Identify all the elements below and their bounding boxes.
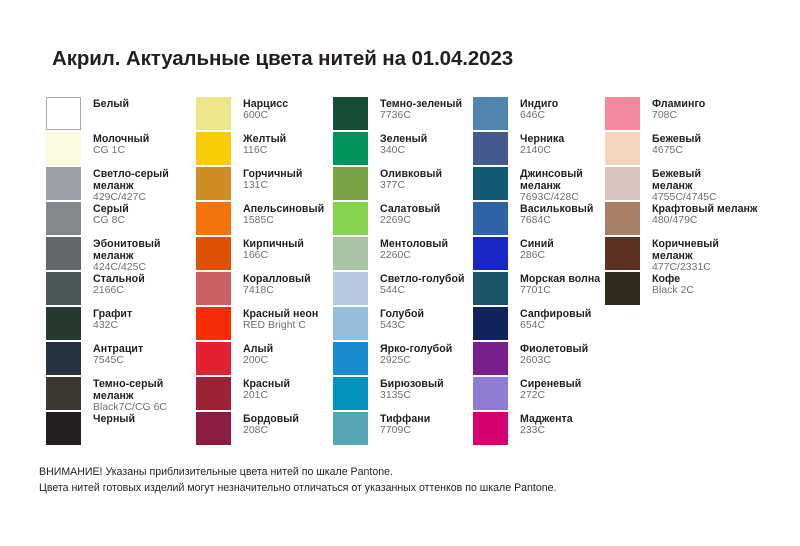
color-swatch[interactable] — [196, 167, 231, 200]
swatch-row[interactable]: Голубой543C — [333, 307, 473, 342]
swatch-labels: Синий286C — [520, 237, 554, 262]
color-swatch[interactable] — [46, 132, 81, 165]
swatch-column-greens-blues: Темно-зеленый7736CЗеленый340CОливковый37… — [333, 97, 473, 447]
color-swatch[interactable] — [473, 237, 508, 270]
swatch-row[interactable]: КофеBlack 2C — [605, 272, 800, 307]
swatch-labels: Крафтовый меланж480/479C — [652, 202, 758, 227]
color-name: Графит — [93, 308, 132, 320]
color-swatch[interactable] — [46, 97, 81, 130]
swatch-column-blues-purples: Индиго646CЧерника2140CДжинсовыймеланж769… — [473, 97, 605, 447]
disclaimer-footer: ВНИМАНИЕ! Указаны приблизительные цвета … — [39, 464, 557, 497]
pantone-code: 1585C — [243, 215, 324, 227]
color-swatch[interactable] — [196, 412, 231, 445]
color-swatch[interactable] — [333, 412, 368, 445]
color-name: Фиолетовый — [520, 343, 588, 355]
color-name: Серый — [93, 203, 129, 215]
pantone-code: 116C — [243, 145, 286, 157]
swatch-row[interactable]: Бежевыймеланж4755C/4745C — [605, 167, 800, 202]
swatch-row[interactable]: Оливковый377C — [333, 167, 473, 202]
color-name: Красный — [243, 378, 290, 390]
color-swatch[interactable] — [605, 202, 640, 235]
pantone-code: 7684C — [520, 215, 593, 227]
color-name-line2: меланж — [93, 180, 169, 192]
color-name: Горчичный — [243, 168, 302, 180]
pantone-code: 233C — [520, 425, 573, 437]
disclaimer-line-2: Цвета нитей готовых изделий могут незнач… — [39, 480, 557, 496]
swatch-labels: Морская волна7701C — [520, 272, 600, 297]
swatch-row[interactable]: Фиолетовый2603C — [473, 342, 605, 377]
swatch-column-pinks-browns: Фламинго708CБежевый4675CБежевыймеланж475… — [605, 97, 800, 307]
swatch-labels: Фиолетовый2603C — [520, 342, 588, 367]
swatch-labels: Кирпичный166C — [243, 237, 304, 262]
pantone-code: 3135C — [380, 390, 444, 402]
color-swatch[interactable] — [46, 307, 81, 340]
swatch-row[interactable]: Алый200C — [196, 342, 333, 377]
swatch-row[interactable]: Белый — [46, 97, 196, 132]
color-name-line2: меланж — [93, 250, 161, 262]
color-swatch[interactable] — [473, 342, 508, 375]
swatch-labels: Фламинго708C — [652, 97, 705, 122]
swatch-row[interactable]: Темно-серыймеланжBlack7C/CG 6C — [46, 377, 196, 412]
color-swatch[interactable] — [333, 132, 368, 165]
swatch-column-warms: Нарцисс600CЖелтый116CГорчичный131CАпельс… — [196, 97, 333, 447]
color-name: Сиреневый — [520, 378, 581, 390]
pantone-code: 2269C — [380, 215, 440, 227]
color-name: Антрацит — [93, 343, 143, 355]
swatch-row[interactable]: Сапфировый654C — [473, 307, 605, 342]
swatch-labels: Тиффани7709C — [380, 412, 430, 437]
color-name-line2: меланж — [520, 180, 583, 192]
color-name: Ярко-голубой — [380, 343, 452, 355]
color-name: Бордовый — [243, 413, 299, 425]
swatch-labels: Темно-серыймеланжBlack7C/CG 6C — [93, 377, 167, 414]
pantone-code: 377C — [380, 180, 442, 192]
pantone-code: 131C — [243, 180, 302, 192]
color-swatch[interactable] — [605, 237, 640, 270]
swatch-row[interactable]: Бирюзовый3135C — [333, 377, 473, 412]
swatch-labels: Черный — [93, 412, 135, 425]
swatch-row[interactable]: Светло-голубой544C — [333, 272, 473, 307]
swatch-labels: Темно-зеленый7736C — [380, 97, 462, 122]
color-name: Нарцисс — [243, 98, 288, 110]
color-chart-page: Акрил. Актуальные цвета нитей на 01.04.2… — [0, 0, 800, 546]
color-name: Оливковый — [380, 168, 442, 180]
pantone-code: 7418C — [243, 285, 311, 297]
swatch-row[interactable]: Черный — [46, 412, 196, 447]
color-swatch[interactable] — [473, 412, 508, 445]
color-name: Индиго — [520, 98, 558, 110]
swatch-labels: Красный неонRED Bright C — [243, 307, 318, 332]
pantone-code: 708C — [652, 110, 705, 122]
swatch-row[interactable]: Бордовый208C — [196, 412, 333, 447]
pantone-code: 7545C — [93, 355, 143, 367]
swatch-labels: Бежевый4675C — [652, 132, 701, 157]
pantone-code: 2925C — [380, 355, 452, 367]
color-name: Салатовый — [380, 203, 440, 215]
pantone-code: 286C — [520, 250, 554, 262]
pantone-code: 166C — [243, 250, 304, 262]
color-swatch[interactable] — [473, 307, 508, 340]
swatch-row[interactable]: Эбонитовыймеланж424C/425C — [46, 237, 196, 272]
color-swatch[interactable] — [46, 377, 81, 410]
pantone-code: 654C — [520, 320, 591, 332]
pantone-code: 272C — [520, 390, 581, 402]
swatch-row[interactable]: Апельсиновый1585C — [196, 202, 333, 237]
color-swatch[interactable] — [605, 272, 640, 305]
swatch-row[interactable]: Антрацит7545C — [46, 342, 196, 377]
swatch-labels: Антрацит7545C — [93, 342, 143, 367]
swatch-labels: Зеленый340C — [380, 132, 427, 157]
pantone-code: 200C — [243, 355, 273, 367]
swatch-labels: Сапфировый654C — [520, 307, 591, 332]
swatch-row[interactable]: Ярко-голубой2925C — [333, 342, 473, 377]
swatch-row[interactable]: Темно-зеленый7736C — [333, 97, 473, 132]
swatch-row[interactable]: Индиго646C — [473, 97, 605, 132]
swatch-labels: Эбонитовыймеланж424C/425C — [93, 237, 161, 274]
swatch-row[interactable]: Коричневыймеланж477C/2331C — [605, 237, 800, 272]
color-swatch[interactable] — [46, 202, 81, 235]
color-name: Бирюзовый — [380, 378, 444, 390]
color-swatch[interactable] — [333, 97, 368, 130]
color-name: Эбонитовый — [93, 238, 161, 250]
color-swatch[interactable] — [196, 307, 231, 340]
color-name: Стальной — [93, 273, 145, 285]
swatch-row[interactable]: Красный201C — [196, 377, 333, 412]
pantone-code: RED Bright C — [243, 320, 318, 332]
color-name-line2: меланж — [93, 390, 167, 402]
pantone-code: 340C — [380, 145, 427, 157]
color-swatch[interactable] — [46, 167, 81, 200]
swatch-labels: Васильковый7684C — [520, 202, 593, 227]
swatch-labels: Черника2140C — [520, 132, 564, 157]
swatch-labels: Бордовый208C — [243, 412, 299, 437]
swatch-columns: БелыйМолочныйCG 1CСветло-серыймеланж429C… — [46, 97, 800, 447]
color-name-line2: меланж — [652, 180, 717, 192]
color-name: Коралловый — [243, 273, 311, 285]
color-name: Молочный — [93, 133, 149, 145]
page-title: Акрил. Актуальные цвета нитей на 01.04.2… — [52, 47, 513, 71]
swatch-labels: Стальной2166C — [93, 272, 145, 297]
color-swatch[interactable] — [473, 377, 508, 410]
swatch-labels: Бежевыймеланж4755C/4745C — [652, 167, 717, 204]
color-name: Бежевый — [652, 168, 717, 180]
swatch-row[interactable]: Крафтовый меланж480/479C — [605, 202, 800, 237]
swatch-labels: КофеBlack 2C — [652, 272, 694, 297]
pantone-code: 2260C — [380, 250, 448, 262]
color-swatch[interactable] — [196, 342, 231, 375]
pantone-code: 432C — [93, 320, 132, 332]
swatch-labels: Индиго646C — [520, 97, 558, 122]
color-swatch[interactable] — [333, 377, 368, 410]
color-name: Светло-серый — [93, 168, 169, 180]
swatch-row[interactable]: Тиффани7709C — [333, 412, 473, 447]
color-swatch[interactable] — [473, 167, 508, 200]
swatch-row[interactable]: Салатовый2269C — [333, 202, 473, 237]
pantone-code: 480/479C — [652, 215, 758, 227]
color-name: Морская волна — [520, 273, 600, 285]
color-swatch[interactable] — [196, 97, 231, 130]
color-name: Красный неон — [243, 308, 318, 320]
color-swatch[interactable] — [333, 237, 368, 270]
color-name: Зеленый — [380, 133, 427, 145]
swatch-labels: Ментоловый2260C — [380, 237, 448, 262]
color-name: Васильковый — [520, 203, 593, 215]
swatch-labels: Красный201C — [243, 377, 290, 402]
color-swatch[interactable] — [196, 272, 231, 305]
swatch-labels: МолочныйCG 1C — [93, 132, 149, 157]
swatch-row[interactable]: Джинсовыймеланж7693C/428C — [473, 167, 605, 202]
color-swatch[interactable] — [46, 342, 81, 375]
pantone-code: 201C — [243, 390, 290, 402]
color-swatch[interactable] — [605, 97, 640, 130]
disclaimer-line-1: ВНИМАНИЕ! Указаны приблизительные цвета … — [39, 464, 557, 480]
color-name: Джинсовый — [520, 168, 583, 180]
swatch-row[interactable]: Красный неонRED Bright C — [196, 307, 333, 342]
pantone-code: 7709C — [380, 425, 430, 437]
swatch-labels: Апельсиновый1585C — [243, 202, 324, 227]
color-name: Желтый — [243, 133, 286, 145]
color-name: Темно-серый — [93, 378, 167, 390]
swatch-labels: Джинсовыймеланж7693C/428C — [520, 167, 583, 204]
pantone-code: Black 2C — [652, 285, 694, 297]
swatch-labels: Оливковый377C — [380, 167, 442, 192]
color-name-line2: меланж — [652, 250, 719, 262]
color-name: Сапфировый — [520, 308, 591, 320]
color-swatch[interactable] — [333, 342, 368, 375]
swatch-row[interactable]: Нарцисс600C — [196, 97, 333, 132]
color-name: Фламинго — [652, 98, 705, 110]
pantone-code: 646C — [520, 110, 558, 122]
color-swatch[interactable] — [46, 412, 81, 445]
color-name: Кирпичный — [243, 238, 304, 250]
swatch-labels: Салатовый2269C — [380, 202, 440, 227]
pantone-code: 208C — [243, 425, 299, 437]
swatch-row[interactable]: Стальной2166C — [46, 272, 196, 307]
color-name: Черника — [520, 133, 564, 145]
color-name: Крафтовый меланж — [652, 203, 758, 215]
swatch-labels: Желтый116C — [243, 132, 286, 157]
color-swatch[interactable] — [605, 167, 640, 200]
swatch-row[interactable]: Желтый116C — [196, 132, 333, 167]
pantone-code: 2140C — [520, 145, 564, 157]
color-name: Черный — [93, 413, 135, 425]
swatch-row[interactable]: СерыйCG 8C — [46, 202, 196, 237]
color-swatch[interactable] — [473, 132, 508, 165]
color-swatch[interactable] — [333, 202, 368, 235]
swatch-labels: Алый200C — [243, 342, 273, 367]
pantone-code: 543C — [380, 320, 424, 332]
swatch-labels: Светло-голубой544C — [380, 272, 465, 297]
pantone-code: 7701C — [520, 285, 600, 297]
swatch-row[interactable]: Зеленый340C — [333, 132, 473, 167]
swatch-row[interactable]: МолочныйCG 1C — [46, 132, 196, 167]
color-name: Кофе — [652, 273, 694, 285]
color-name: Тиффани — [380, 413, 430, 425]
swatch-row[interactable]: Маджента233C — [473, 412, 605, 447]
pantone-code: 2166C — [93, 285, 145, 297]
color-swatch[interactable] — [473, 202, 508, 235]
swatch-row[interactable]: Морская волна7701C — [473, 272, 605, 307]
color-swatch[interactable] — [333, 307, 368, 340]
swatch-row[interactable]: Сиреневый272C — [473, 377, 605, 412]
pantone-code: 7736C — [380, 110, 462, 122]
swatch-row[interactable]: Бежевый4675C — [605, 132, 800, 167]
pantone-code: 600C — [243, 110, 288, 122]
color-name: Белый — [93, 98, 129, 110]
swatch-labels: Маджента233C — [520, 412, 573, 437]
swatch-row[interactable]: Горчичный131C — [196, 167, 333, 202]
color-swatch[interactable] — [196, 377, 231, 410]
color-swatch[interactable] — [605, 132, 640, 165]
color-name: Голубой — [380, 308, 424, 320]
color-name: Темно-зеленый — [380, 98, 462, 110]
swatch-labels: Сиреневый272C — [520, 377, 581, 402]
color-swatch[interactable] — [46, 272, 81, 305]
swatch-row[interactable]: Коралловый7418C — [196, 272, 333, 307]
swatch-labels: Бирюзовый3135C — [380, 377, 444, 402]
color-swatch[interactable] — [46, 237, 81, 270]
color-name: Апельсиновый — [243, 203, 324, 215]
color-swatch[interactable] — [473, 272, 508, 305]
color-swatch[interactable] — [333, 167, 368, 200]
color-swatch[interactable] — [196, 237, 231, 270]
swatch-labels: Графит432C — [93, 307, 132, 332]
swatch-labels: Ярко-голубой2925C — [380, 342, 452, 367]
swatch-labels: Белый — [93, 97, 129, 110]
swatch-labels: Горчичный131C — [243, 167, 302, 192]
swatch-row[interactable]: Васильковый7684C — [473, 202, 605, 237]
swatch-row[interactable]: Кирпичный166C — [196, 237, 333, 272]
swatch-labels: Коралловый7418C — [243, 272, 311, 297]
pantone-code: 544C — [380, 285, 465, 297]
swatch-row[interactable]: Черника2140C — [473, 132, 605, 167]
color-name: Синий — [520, 238, 554, 250]
swatch-column-neutrals: БелыйМолочныйCG 1CСветло-серыймеланж429C… — [46, 97, 196, 447]
color-swatch[interactable] — [473, 97, 508, 130]
swatch-row[interactable]: Синий286C — [473, 237, 605, 272]
color-swatch[interactable] — [333, 272, 368, 305]
swatch-row[interactable]: Фламинго708C — [605, 97, 800, 132]
swatch-labels: Светло-серыймеланж429C/427C — [93, 167, 169, 204]
color-name: Бежевый — [652, 133, 701, 145]
color-name: Коричневый — [652, 238, 719, 250]
swatch-row[interactable]: Графит432C — [46, 307, 196, 342]
color-name: Алый — [243, 343, 273, 355]
pantone-code: CG 8C — [93, 215, 129, 227]
pantone-code: CG 1C — [93, 145, 149, 157]
color-swatch[interactable] — [196, 202, 231, 235]
swatch-labels: Голубой543C — [380, 307, 424, 332]
swatch-row[interactable]: Светло-серыймеланж429C/427C — [46, 167, 196, 202]
pantone-code: 4675C — [652, 145, 701, 157]
color-name: Ментоловый — [380, 238, 448, 250]
color-name: Маджента — [520, 413, 573, 425]
swatch-row[interactable]: Ментоловый2260C — [333, 237, 473, 272]
pantone-code: 2603C — [520, 355, 588, 367]
swatch-labels: Коричневыймеланж477C/2331C — [652, 237, 719, 274]
swatch-labels: СерыйCG 8C — [93, 202, 129, 227]
color-name: Светло-голубой — [380, 273, 465, 285]
swatch-labels: Нарцисс600C — [243, 97, 288, 122]
color-swatch[interactable] — [196, 132, 231, 165]
